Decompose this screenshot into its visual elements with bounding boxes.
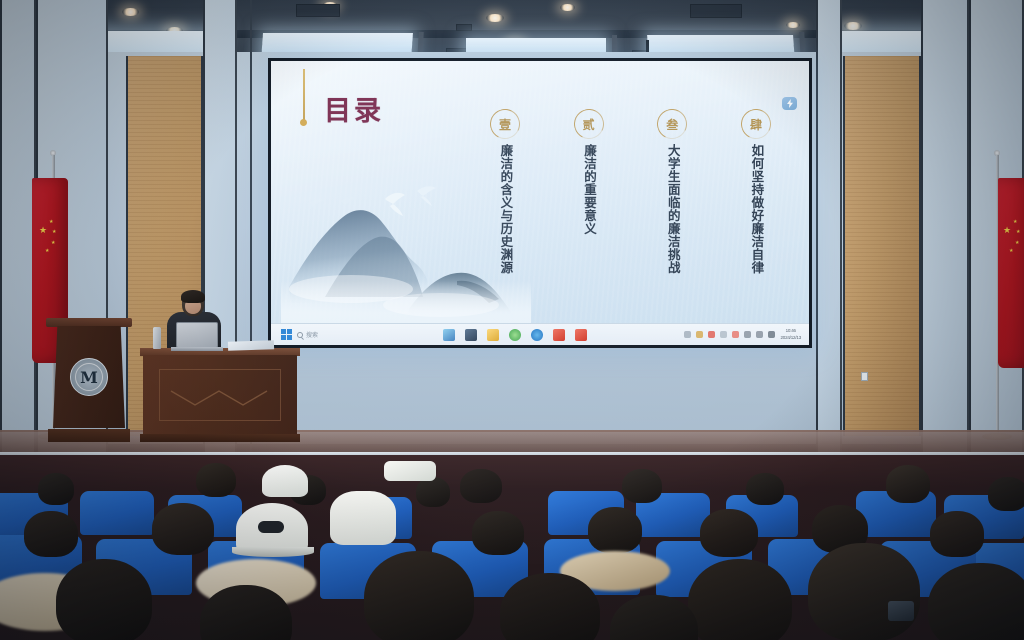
- ceiling-downlight: [486, 14, 504, 22]
- university-emblem: M: [70, 358, 108, 396]
- flag-star-icon: ★: [1016, 230, 1020, 235]
- seat: [80, 491, 154, 535]
- wps-office-icon[interactable]: [553, 329, 565, 341]
- audience-head: [700, 509, 758, 557]
- flag-cloth: ★ ★ ★ ★ ★: [998, 178, 1024, 368]
- audience-white-cap: [262, 465, 308, 497]
- file-explorer-icon[interactable]: [487, 329, 499, 341]
- toc-section-label: 大学生面临的廉洁挑战: [665, 144, 680, 274]
- tray-up-arrow-icon[interactable]: [684, 331, 691, 338]
- bird-icon: [417, 186, 436, 206]
- audience-head-foreground: [808, 543, 920, 640]
- flag-star-icon: ★: [1003, 226, 1011, 235]
- bird-icon: [309, 199, 324, 207]
- audience-head: [472, 511, 524, 555]
- laptop-base: [171, 347, 223, 351]
- toc-numeral: 叁: [666, 116, 678, 133]
- desk-body: [143, 355, 297, 435]
- toc-section-4: 肆 如何坚持做好廉洁自律: [727, 109, 785, 323]
- flag-star-icon: ★: [45, 249, 49, 254]
- lecture-hall-scene: 目录 壹 廉洁的含义与历史渊源: [0, 0, 1024, 640]
- wps-presentation-icon[interactable]: [575, 329, 587, 341]
- desk-foot: [140, 434, 300, 442]
- tray-network-icon[interactable]: [720, 331, 727, 338]
- flag-star-icon: ★: [49, 220, 53, 225]
- audience-head: [886, 465, 930, 503]
- clock-date: 2024/12/13: [780, 335, 801, 341]
- windows-taskbar: 搜索: [271, 323, 809, 345]
- audience-head: [24, 511, 78, 557]
- tray-notify-icon[interactable]: [708, 331, 715, 338]
- laptop-screen: [176, 322, 218, 348]
- photos-icon[interactable]: [443, 329, 455, 341]
- cap-brim: [232, 547, 314, 557]
- flag-star-icon: ★: [1009, 249, 1013, 254]
- search-icon: [297, 332, 303, 338]
- projection-screen: 目录 壹 廉洁的含义与历史渊源: [268, 58, 812, 348]
- audience-head: [196, 463, 236, 497]
- bird-icon: [341, 197, 356, 205]
- water-bottle: [153, 327, 161, 349]
- presenter-hair: [181, 290, 205, 303]
- lectern-top: [46, 318, 132, 327]
- audience-head: [930, 511, 984, 557]
- ceiling-downlight: [122, 8, 139, 16]
- audience-head: [38, 473, 74, 505]
- flag-star-icon: ★: [52, 230, 56, 235]
- toc-section-label: 廉洁的重要意义: [581, 144, 596, 235]
- tray-battery-icon[interactable]: [768, 331, 775, 338]
- edge-browser-icon[interactable]: [531, 329, 543, 341]
- taskbar-tray: 10:46 2024/12/13: [639, 328, 809, 340]
- flag-right: ★ ★ ★ ★ ★: [982, 150, 1024, 450]
- ceiling-vent: [456, 24, 472, 31]
- slide-title: 目录: [324, 89, 384, 128]
- lightning-bolt-glyph: [786, 99, 794, 108]
- audience-white-cap: [384, 461, 436, 481]
- ceiling-downlight: [844, 22, 862, 30]
- search-placeholder: 搜索: [306, 330, 318, 339]
- flag-star-icon: ★: [1015, 241, 1019, 246]
- toc-numeral: 贰: [583, 116, 595, 133]
- audience-head-foreground: [500, 573, 600, 640]
- toc-section-label: 如何坚持做好廉洁自律: [749, 144, 764, 274]
- toc-section-3: 叁 大学生面临的廉洁挑战: [643, 109, 701, 323]
- audience-head-foreground: [688, 559, 792, 640]
- audience-white-hood: [330, 491, 396, 545]
- desktop-icon[interactable]: [465, 329, 477, 341]
- audience-head-foreground: [364, 551, 474, 640]
- ceiling-vent: [296, 4, 340, 17]
- audience-area: [0, 455, 1024, 640]
- cap-back-strap: [258, 521, 284, 533]
- audience-head: [152, 503, 214, 555]
- audience-head: [746, 473, 784, 505]
- toc-section-2: 贰 廉洁的重要意义: [560, 109, 618, 323]
- desk-chevron-ornament: [169, 387, 269, 407]
- desk-papers: [228, 340, 274, 351]
- lectern-base: [48, 429, 130, 442]
- slide-toc: 壹 廉洁的含义与历史渊源 贰 廉洁的重要意义 叁: [476, 109, 785, 323]
- ceiling-downlight: [786, 22, 800, 28]
- toc-section-label: 廉洁的含义与历史渊源: [498, 144, 513, 274]
- audience-phone-screen: [888, 601, 914, 621]
- bird-icon: [385, 193, 405, 216]
- taskbar-apps: [391, 329, 639, 341]
- flag-star-icon: ★: [51, 241, 55, 246]
- audience-head: [588, 507, 642, 553]
- tray-wifi-icon[interactable]: [756, 331, 763, 338]
- presenter-desk: [140, 348, 300, 442]
- audience-head: [622, 469, 662, 503]
- audience-head-foreground: [928, 563, 1024, 640]
- toc-number-circle: 肆: [741, 109, 771, 139]
- toc-number-circle: 叁: [657, 109, 687, 139]
- toc-number-circle: 贰: [574, 109, 604, 139]
- lectern: M: [46, 318, 132, 442]
- emblem-mark: M: [75, 363, 103, 391]
- audience-head: [416, 477, 450, 507]
- taskbar-clock[interactable]: 10:46 2024/12/13: [780, 328, 801, 340]
- taskbar-search[interactable]: 搜索: [297, 330, 318, 339]
- flag-star-icon: ★: [39, 226, 47, 235]
- audience-head-foreground: [56, 559, 152, 640]
- toc-number-circle: 壹: [490, 109, 520, 139]
- start-button[interactable]: [281, 329, 292, 340]
- title-accent-dot: [300, 119, 307, 126]
- toc-section-1: 壹 廉洁的含义与历史渊源: [476, 109, 534, 323]
- tray-onedrive-icon[interactable]: [696, 331, 703, 338]
- ceiling-vent: [690, 4, 742, 18]
- tray-shield-icon[interactable]: [732, 331, 739, 338]
- wall-outlet: [861, 372, 868, 381]
- browser-green-icon[interactable]: [509, 329, 521, 341]
- wood-acoustic-panel: [843, 56, 921, 436]
- title-accent-rule: [303, 69, 305, 121]
- presentation-slide: 目录 壹 廉洁的含义与历史渊源: [271, 61, 809, 323]
- toc-numeral: 肆: [750, 116, 762, 133]
- audience-head-foreground: [610, 595, 698, 640]
- flag-star-icon: ★: [1013, 220, 1017, 225]
- tray-volume-icon[interactable]: [744, 331, 751, 338]
- ceiling-downlight: [560, 4, 575, 11]
- audience-head: [460, 469, 502, 503]
- audience-head: [988, 477, 1024, 511]
- toc-numeral: 壹: [499, 116, 511, 133]
